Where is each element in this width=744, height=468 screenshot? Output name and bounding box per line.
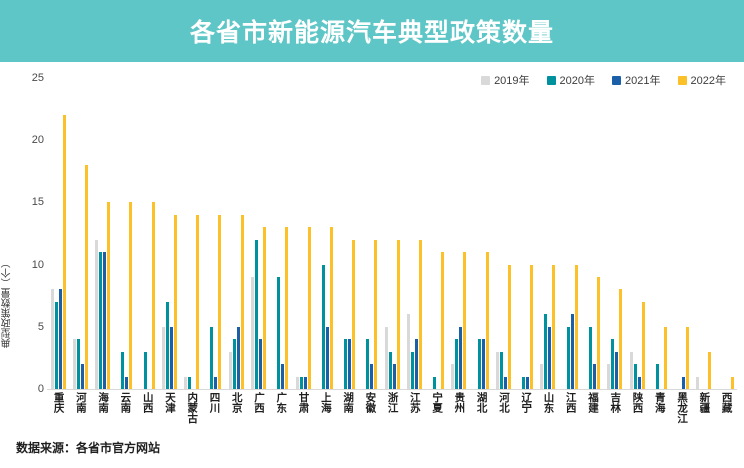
bar-2020年[interactable]	[344, 339, 347, 389]
bar-2020年[interactable]	[188, 377, 191, 389]
x-axis-label: 江苏	[403, 392, 425, 438]
bar-2020年[interactable]	[522, 377, 525, 389]
bar-2021年[interactable]	[593, 364, 596, 389]
bar-2022年[interactable]	[374, 240, 377, 389]
bar-2022年[interactable]	[129, 202, 132, 389]
bar-group	[604, 78, 626, 389]
bar-2022年[interactable]	[419, 240, 422, 389]
bar-group	[648, 78, 670, 389]
chart-page: 各省市新能源汽车典型政策数量 2019年2020年2021年2022年 典型政策…	[0, 0, 744, 468]
bar-2019年[interactable]	[296, 377, 299, 389]
x-axis-label-text: 重庆	[53, 392, 64, 413]
x-axis-label-text: 云南	[119, 392, 130, 413]
x-axis-label-text: 湖北	[476, 392, 487, 413]
bar-2019年[interactable]	[184, 377, 187, 389]
x-axis-labels: 重庆河南海南云南山西天津内蒙古四川北京广西广东甘肃上海湖南安徽浙江江苏宁夏贵州湖…	[47, 392, 737, 438]
y-tick-label: 25	[32, 72, 44, 84]
bar-2022年[interactable]	[642, 302, 645, 389]
x-axis-label: 西藏	[715, 392, 737, 438]
bar-group	[515, 78, 537, 389]
bar-2021年[interactable]	[370, 364, 373, 389]
bar-2019年[interactable]	[407, 314, 410, 389]
x-axis-label-text: 上海	[320, 392, 331, 413]
bar-2021年[interactable]	[482, 339, 485, 389]
y-axis-ticks: 0510152025	[18, 78, 44, 389]
x-axis-label-text: 江苏	[409, 392, 420, 413]
y-tick-label: 5	[38, 321, 44, 333]
x-axis-label-text: 浙江	[387, 392, 398, 413]
bar-group	[715, 78, 737, 389]
x-axis-label: 陕西	[626, 392, 648, 438]
bar-group	[426, 78, 448, 389]
plot-area: 典型政策数量（个） 0510152025	[0, 78, 744, 398]
bar-2021年[interactable]	[615, 352, 618, 389]
bar-group	[336, 78, 358, 389]
bar-group	[47, 78, 69, 389]
bar-2019年[interactable]	[696, 377, 699, 389]
x-axis-line	[47, 389, 737, 390]
x-axis-label: 北京	[225, 392, 247, 438]
bar-2020年[interactable]	[322, 265, 325, 389]
bar-group	[403, 78, 425, 389]
bar-2022年[interactable]	[597, 277, 600, 389]
x-axis-label-text: 广西	[253, 392, 264, 413]
bar-2020年[interactable]	[455, 339, 458, 389]
bar-2021年[interactable]	[348, 339, 351, 389]
bar-2022年[interactable]	[63, 115, 66, 389]
bar-2022年[interactable]	[619, 289, 622, 389]
bar-2020年[interactable]	[366, 339, 369, 389]
x-axis-label: 云南	[114, 392, 136, 438]
bar-group	[581, 78, 603, 389]
bar-group	[670, 78, 692, 389]
x-axis-label-text: 辽宁	[520, 392, 531, 413]
bar-2022年[interactable]	[85, 165, 88, 389]
bar-2022年[interactable]	[152, 202, 155, 389]
x-axis-label: 湖北	[470, 392, 492, 438]
bar-group	[114, 78, 136, 389]
bar-group	[247, 78, 269, 389]
x-axis-label-text: 天津	[164, 392, 175, 413]
x-axis-label: 江西	[559, 392, 581, 438]
x-axis-label-text: 内蒙古	[186, 392, 197, 424]
bar-2020年[interactable]	[567, 327, 570, 389]
x-axis-label-text: 湖南	[342, 392, 353, 413]
bar-2020年[interactable]	[411, 352, 414, 389]
bar-2020年[interactable]	[300, 377, 303, 389]
bar-2020年[interactable]	[389, 352, 392, 389]
bar-group	[626, 78, 648, 389]
bar-2022年[interactable]	[218, 215, 221, 389]
bar-2019年[interactable]	[607, 364, 610, 389]
bar-2020年[interactable]	[500, 352, 503, 389]
bar-2022年[interactable]	[397, 240, 400, 389]
bar-group	[693, 78, 715, 389]
x-axis-label: 新疆	[693, 392, 715, 438]
bar-group	[181, 78, 203, 389]
bar-2022年[interactable]	[285, 227, 288, 389]
bar-2020年[interactable]	[255, 240, 258, 389]
bar-2020年[interactable]	[166, 302, 169, 389]
x-axis-label-text: 广东	[275, 392, 286, 413]
x-axis-label-text: 山西	[142, 392, 153, 413]
x-axis-label: 吉林	[604, 392, 626, 438]
bar-2021年[interactable]	[81, 364, 84, 389]
x-axis-label-text: 河北	[498, 392, 509, 413]
bar-group	[381, 78, 403, 389]
bar-2019年[interactable]	[385, 327, 388, 389]
x-axis-label-text: 吉林	[609, 392, 620, 413]
bar-2021年[interactable]	[571, 314, 574, 389]
bar-2021年[interactable]	[304, 377, 307, 389]
bar-2022年[interactable]	[508, 265, 511, 389]
bar-2021年[interactable]	[125, 377, 128, 389]
x-axis-label: 河南	[69, 392, 91, 438]
x-axis-label-text: 陕西	[632, 392, 643, 413]
bar-2019年[interactable]	[630, 352, 633, 389]
x-axis-label-text: 海南	[97, 392, 108, 413]
x-axis-label: 上海	[314, 392, 336, 438]
x-axis-label: 重庆	[47, 392, 69, 438]
x-axis-label-text: 宁夏	[431, 392, 442, 413]
bar-2021年[interactable]	[170, 327, 173, 389]
bar-2021年[interactable]	[259, 339, 262, 389]
x-axis-label: 海南	[92, 392, 114, 438]
bar-2022年[interactable]	[441, 252, 444, 389]
y-tick-label: 10	[32, 259, 44, 271]
x-axis-label: 福建	[581, 392, 603, 438]
bar-2021年[interactable]	[504, 377, 507, 389]
bar-2022年[interactable]	[241, 215, 244, 389]
y-tick-label: 15	[32, 196, 44, 208]
x-axis-label-text: 山东	[542, 392, 553, 413]
bar-2019年[interactable]	[162, 327, 165, 389]
bar-group	[69, 78, 91, 389]
bar-2020年[interactable]	[144, 352, 147, 389]
bar-2021年[interactable]	[548, 327, 551, 389]
x-axis-label: 安徽	[359, 392, 381, 438]
bar-group	[470, 78, 492, 389]
x-axis-label: 广东	[270, 392, 292, 438]
x-axis-label: 湖南	[336, 392, 358, 438]
x-axis-label: 天津	[158, 392, 180, 438]
bar-2021年[interactable]	[281, 364, 284, 389]
bar-2020年[interactable]	[544, 314, 547, 389]
bar-groups	[47, 78, 737, 389]
bar-2020年[interactable]	[589, 327, 592, 389]
x-axis-label: 四川	[203, 392, 225, 438]
x-axis-label: 山西	[136, 392, 158, 438]
bar-2022年[interactable]	[664, 327, 667, 389]
x-axis-label-text: 江西	[565, 392, 576, 413]
x-axis-label: 青海	[648, 392, 670, 438]
bar-2020年[interactable]	[121, 352, 124, 389]
bar-group	[448, 78, 470, 389]
bar-2019年[interactable]	[496, 352, 499, 389]
bar-2019年[interactable]	[95, 240, 98, 389]
bar-2022年[interactable]	[263, 227, 266, 389]
y-tick-label: 0	[38, 383, 44, 395]
bar-2022年[interactable]	[308, 227, 311, 389]
x-axis-label-text: 四川	[208, 392, 219, 413]
bar-2020年[interactable]	[210, 327, 213, 389]
bar-2019年[interactable]	[540, 364, 543, 389]
bar-2020年[interactable]	[55, 302, 58, 389]
data-source-note: 数据来源：各省市官方网站	[16, 439, 160, 456]
bar-2021年[interactable]	[326, 327, 329, 389]
bar-2019年[interactable]	[51, 289, 54, 389]
x-axis-label-text: 北京	[231, 392, 242, 413]
bar-group	[225, 78, 247, 389]
x-axis-label-text: 安徽	[364, 392, 375, 413]
bar-2019年[interactable]	[73, 339, 76, 389]
bar-2021年[interactable]	[526, 377, 529, 389]
bar-2021年[interactable]	[237, 327, 240, 389]
bar-group	[359, 78, 381, 389]
bar-2020年[interactable]	[433, 377, 436, 389]
bar-2022年[interactable]	[708, 352, 711, 389]
x-axis-label: 宁夏	[426, 392, 448, 438]
y-axis-title: 典型政策数量（个）	[2, 258, 16, 348]
x-axis-label-text: 福建	[587, 392, 598, 413]
x-axis-label-text: 新疆	[698, 392, 709, 413]
bar-group	[158, 78, 180, 389]
bar-2022年[interactable]	[575, 265, 578, 389]
bar-2022年[interactable]	[330, 227, 333, 389]
bar-2022年[interactable]	[463, 252, 466, 389]
page-title: 各省市新能源汽车典型政策数量	[190, 13, 554, 49]
x-axis-label-text: 甘肃	[298, 392, 309, 413]
bar-group	[492, 78, 514, 389]
bar-2022年[interactable]	[196, 215, 199, 389]
x-axis-label-text: 黑龙江	[676, 392, 687, 424]
bar-group	[92, 78, 114, 389]
bar-group	[292, 78, 314, 389]
bar-2019年[interactable]	[251, 277, 254, 389]
bar-2021年[interactable]	[638, 377, 641, 389]
bar-2022年[interactable]	[686, 327, 689, 389]
x-axis-label: 甘肃	[292, 392, 314, 438]
bar-2021年[interactable]	[459, 327, 462, 389]
bar-2022年[interactable]	[530, 265, 533, 389]
bar-2020年[interactable]	[99, 252, 102, 389]
bar-2022年[interactable]	[174, 215, 177, 389]
bar-group	[537, 78, 559, 389]
x-axis-label-text: 贵州	[453, 392, 464, 413]
bar-2020年[interactable]	[656, 364, 659, 389]
x-axis-label: 辽宁	[515, 392, 537, 438]
bar-group	[136, 78, 158, 389]
x-axis-label: 浙江	[381, 392, 403, 438]
bar-2020年[interactable]	[478, 339, 481, 389]
bar-group	[203, 78, 225, 389]
x-axis-label: 内蒙古	[181, 392, 203, 438]
x-axis-label-text: 青海	[654, 392, 665, 413]
bar-2022年[interactable]	[486, 252, 489, 389]
bar-2021年[interactable]	[682, 377, 685, 389]
bar-2022年[interactable]	[352, 240, 355, 389]
x-axis-label-text: 西藏	[721, 392, 732, 413]
bar-2019年[interactable]	[451, 364, 454, 389]
y-tick-label: 20	[32, 134, 44, 146]
bar-2022年[interactable]	[107, 202, 110, 389]
bar-2021年[interactable]	[393, 364, 396, 389]
bar-group	[559, 78, 581, 389]
bar-2021年[interactable]	[59, 289, 62, 389]
bar-2022年[interactable]	[552, 265, 555, 389]
bar-2020年[interactable]	[277, 277, 280, 389]
bar-2019年[interactable]	[229, 352, 232, 389]
bar-2022年[interactable]	[731, 377, 734, 389]
bar-2021年[interactable]	[103, 252, 106, 389]
bar-2021年[interactable]	[415, 339, 418, 389]
bar-2021年[interactable]	[214, 377, 217, 389]
chart-header-banner: 各省市新能源汽车典型政策数量	[0, 0, 744, 62]
bar-2020年[interactable]	[611, 339, 614, 389]
bar-2020年[interactable]	[634, 364, 637, 389]
x-axis-label: 山东	[537, 392, 559, 438]
x-axis-label: 黑龙江	[670, 392, 692, 438]
bar-2020年[interactable]	[77, 339, 80, 389]
bar-group	[314, 78, 336, 389]
x-axis-label: 贵州	[448, 392, 470, 438]
x-axis-label: 河北	[492, 392, 514, 438]
x-axis-label-text: 河南	[75, 392, 86, 413]
bar-2020年[interactable]	[233, 339, 236, 389]
x-axis-label: 广西	[247, 392, 269, 438]
bar-group	[270, 78, 292, 389]
